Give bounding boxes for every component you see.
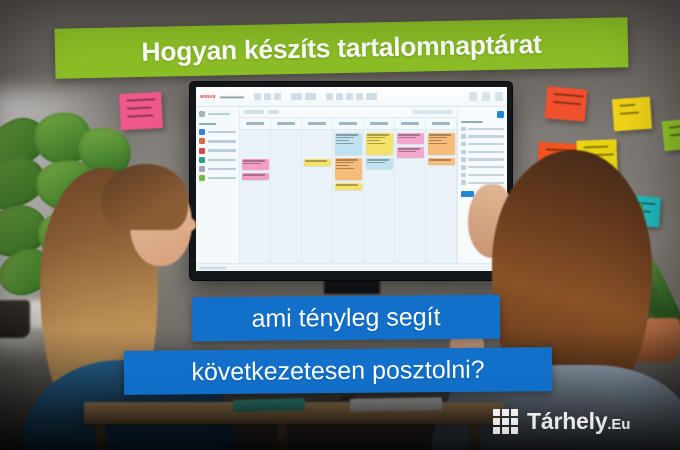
calendar-card[interactable] bbox=[397, 133, 424, 144]
calendar-column-4[interactable] bbox=[364, 130, 395, 271]
sidebar-search-label bbox=[208, 113, 230, 115]
calendar-card[interactable] bbox=[242, 159, 269, 170]
calendar-column-headers bbox=[240, 118, 457, 130]
note-yellow-top bbox=[612, 97, 652, 132]
calendar-card[interactable] bbox=[397, 147, 424, 158]
right-item-2[interactable] bbox=[461, 134, 504, 139]
link-icon[interactable] bbox=[326, 93, 333, 100]
calendar-card[interactable] bbox=[335, 158, 362, 180]
woman-left-hair-front bbox=[102, 164, 188, 230]
share-icon[interactable] bbox=[356, 93, 363, 100]
sort-icon[interactable] bbox=[305, 93, 316, 100]
search-icon bbox=[199, 111, 205, 117]
right-section-header-1 bbox=[461, 121, 483, 123]
nav-item-1-label bbox=[208, 131, 236, 133]
nav-item-2-label bbox=[208, 140, 236, 142]
sidebar-section-header bbox=[199, 123, 216, 125]
calendar-column-0[interactable] bbox=[240, 130, 271, 271]
subline-text-1: ami tényleg segít bbox=[251, 303, 440, 334]
share-action-icon[interactable] bbox=[469, 92, 477, 101]
subline-band-2: következetesen posztolni? bbox=[124, 347, 552, 395]
calendar-column-3[interactable] bbox=[333, 130, 364, 271]
calendar-header-col-7[interactable] bbox=[426, 118, 457, 129]
calendar-board[interactable] bbox=[240, 107, 457, 271]
calendar-cell-spacer bbox=[242, 133, 269, 159]
monitor-stand bbox=[324, 278, 380, 294]
toolbar-icon-group-2 bbox=[291, 93, 316, 100]
brand-logo[interactable]: Tárhely.Eu bbox=[493, 406, 630, 436]
right-item-3-icon bbox=[461, 142, 466, 147]
screenshot-canvas: WRIKE ▬▬▬▬▬▬ bbox=[0, 0, 680, 450]
toolbar-right-icons bbox=[469, 92, 503, 101]
note-green-far bbox=[662, 119, 680, 152]
note-red-top bbox=[545, 86, 588, 121]
board-view-chip-1[interactable] bbox=[244, 110, 264, 114]
brand-logo-name: Tárhely bbox=[527, 408, 607, 434]
calendar-column-5[interactable] bbox=[395, 130, 426, 271]
calendar-card[interactable] bbox=[366, 133, 393, 155]
calendar-column-2[interactable] bbox=[302, 130, 333, 271]
grid-3x3-icon bbox=[493, 409, 518, 434]
brand-logo-text: Tárhely.Eu bbox=[527, 408, 630, 435]
right-item-1-label bbox=[468, 128, 504, 130]
headline-text: Hogyan készíts tartalomnaptárat bbox=[141, 28, 542, 67]
calendar-card[interactable] bbox=[335, 183, 362, 190]
brand-logo-suffix: .Eu bbox=[607, 416, 630, 433]
calendar-header-col-4[interactable] bbox=[333, 118, 364, 129]
calendar-header-col-6[interactable] bbox=[395, 118, 426, 129]
print-icon[interactable] bbox=[274, 93, 281, 100]
right-item-3[interactable] bbox=[461, 142, 504, 147]
subline-text-2: következetesen posztolni? bbox=[191, 355, 484, 387]
nav-item-3-label bbox=[208, 149, 236, 151]
right-panel-toggle-button[interactable] bbox=[497, 111, 504, 118]
nav-item-2-icon bbox=[199, 138, 205, 144]
toolbar-icon-group-1 bbox=[254, 93, 281, 100]
calendar-card[interactable] bbox=[366, 158, 393, 169]
image-icon[interactable] bbox=[336, 93, 343, 100]
calendar-card[interactable] bbox=[335, 133, 362, 155]
sidebar-nav-item-1[interactable] bbox=[199, 129, 236, 135]
calendar-header-col-3[interactable] bbox=[302, 118, 333, 129]
undo-icon[interactable] bbox=[254, 93, 261, 100]
subline-band-1: ami tényleg segít bbox=[192, 295, 500, 342]
calendar-cell-spacer bbox=[304, 133, 331, 159]
comment-icon[interactable] bbox=[346, 93, 353, 100]
nav-item-3-icon bbox=[199, 148, 205, 154]
board-view-chip-2[interactable] bbox=[268, 110, 279, 114]
filter-icon[interactable] bbox=[291, 93, 302, 100]
calendar-header-col-1[interactable] bbox=[240, 118, 271, 129]
right-item-3-label bbox=[468, 143, 504, 145]
sidebar-nav-item-3[interactable] bbox=[199, 148, 236, 154]
person-icon[interactable] bbox=[366, 93, 377, 100]
avatar-icon[interactable] bbox=[495, 92, 503, 101]
app-brand-logo[interactable]: WRIKE bbox=[200, 94, 216, 99]
calendar-card[interactable] bbox=[304, 159, 331, 166]
calendar-grid[interactable] bbox=[240, 130, 457, 271]
calendar-column-1[interactable] bbox=[271, 130, 302, 271]
sidebar-nav-item-2[interactable] bbox=[199, 138, 236, 144]
board-toolbar bbox=[240, 107, 457, 118]
board-toolbar-right bbox=[413, 110, 453, 113]
app-toolbar: WRIKE ▬▬▬▬▬▬ bbox=[196, 87, 507, 107]
calendar-header-col-2[interactable] bbox=[271, 118, 302, 129]
toolbar-icon-group-3 bbox=[326, 93, 377, 100]
redo-icon[interactable] bbox=[264, 93, 271, 100]
right-item-1-icon bbox=[461, 127, 466, 132]
app-document-title: ▬▬▬▬▬▬ bbox=[220, 94, 244, 99]
right-item-1[interactable] bbox=[461, 127, 504, 132]
right-item-2-icon bbox=[461, 134, 466, 139]
nav-item-1-icon bbox=[199, 129, 205, 135]
calendar-header-col-5[interactable] bbox=[364, 118, 395, 129]
calendar-card[interactable] bbox=[242, 173, 269, 180]
bell-icon[interactable] bbox=[482, 92, 490, 101]
sidebar-search-row[interactable] bbox=[199, 111, 236, 117]
right-item-2-label bbox=[468, 135, 504, 137]
